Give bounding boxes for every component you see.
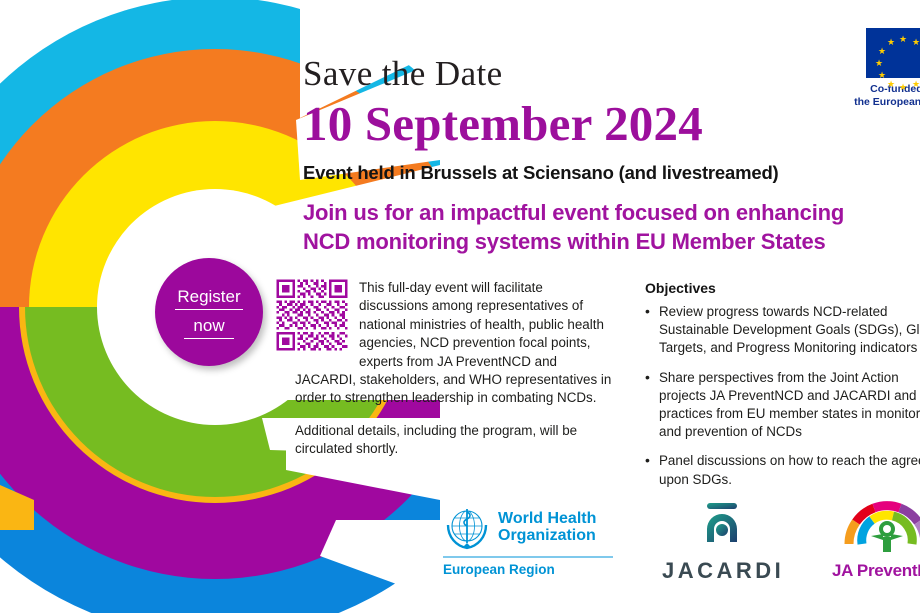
who-logo: World Health Organization European Regio… xyxy=(443,503,613,577)
who-region-label: European Region xyxy=(443,562,613,577)
who-name: World Health Organization xyxy=(498,510,596,545)
objective-line: upon SDGs. xyxy=(659,471,920,489)
objective-line: and prevention of NCDs xyxy=(659,423,920,441)
register-now-button[interactable]: Register now xyxy=(155,258,263,366)
preventncd-emblem-icon xyxy=(841,492,920,554)
jacardi-emblem-icon xyxy=(690,500,754,548)
objectives-title: Objectives xyxy=(645,280,920,296)
who-divider xyxy=(443,556,613,558)
lead-statement-line1: Join us for an impactful event focused o… xyxy=(303,198,920,227)
objective-item: • Share perspectives from the Joint Acti… xyxy=(645,369,920,442)
objective-line: Review progress towards NCD-related xyxy=(659,303,920,321)
preventncd-logo: JA PreventNCD xyxy=(832,492,920,581)
event-poster: ★ ★ ★ ★ ★ ★ ★ ★ ★ ★ ★ ★ Co-funded by the… xyxy=(0,0,920,613)
objective-line: practices from EU member states in monit… xyxy=(659,405,920,423)
lead-statement-line2: NCD monitoring systems within EU Member … xyxy=(303,227,920,256)
bullet-icon: • xyxy=(645,451,650,469)
register-label-top: Register xyxy=(175,286,242,310)
headline-block: Save the Date 10 September 2024 Event he… xyxy=(303,54,920,184)
objective-line: projects JA PreventNCD and JACARDI and b… xyxy=(659,387,920,405)
save-the-date-label: Save the Date xyxy=(303,54,920,94)
lead-statement: Join us for an impactful event focused o… xyxy=(303,198,920,256)
event-date: 10 September 2024 xyxy=(303,95,920,153)
who-emblem-icon xyxy=(443,503,491,551)
objective-line: Share perspectives from the Joint Action xyxy=(659,369,920,387)
event-venue: Event held in Brussels at Sciensano (and… xyxy=(303,162,920,184)
objective-line: Panel discussions on how to reach the ag… xyxy=(659,452,920,470)
qr-code[interactable] xyxy=(274,277,350,353)
objectives-section: Objectives • Review progress towards NCD… xyxy=(645,280,920,500)
bullet-icon: • xyxy=(645,368,650,386)
objective-line: Sustainable Development Goals (SDGs), Gl… xyxy=(659,321,920,339)
who-name-line1: World Health xyxy=(498,510,596,528)
who-name-line2: Organization xyxy=(498,527,596,545)
bullet-icon: • xyxy=(645,302,650,320)
objective-line: Targets, and Progress Monitoring indicat… xyxy=(659,339,920,357)
description-paragraph-2: Additional details, including the progra… xyxy=(295,422,615,459)
objective-item: • Review progress towards NCD-related Su… xyxy=(645,303,920,358)
preventncd-wordmark: JA PreventNCD xyxy=(832,561,920,581)
jacardi-wordmark: JACARDI xyxy=(662,558,782,584)
objective-item: • Panel discussions on how to reach the … xyxy=(645,452,920,488)
jacardi-logo: JACARDI xyxy=(662,500,782,584)
register-label-bottom: now xyxy=(184,315,233,339)
